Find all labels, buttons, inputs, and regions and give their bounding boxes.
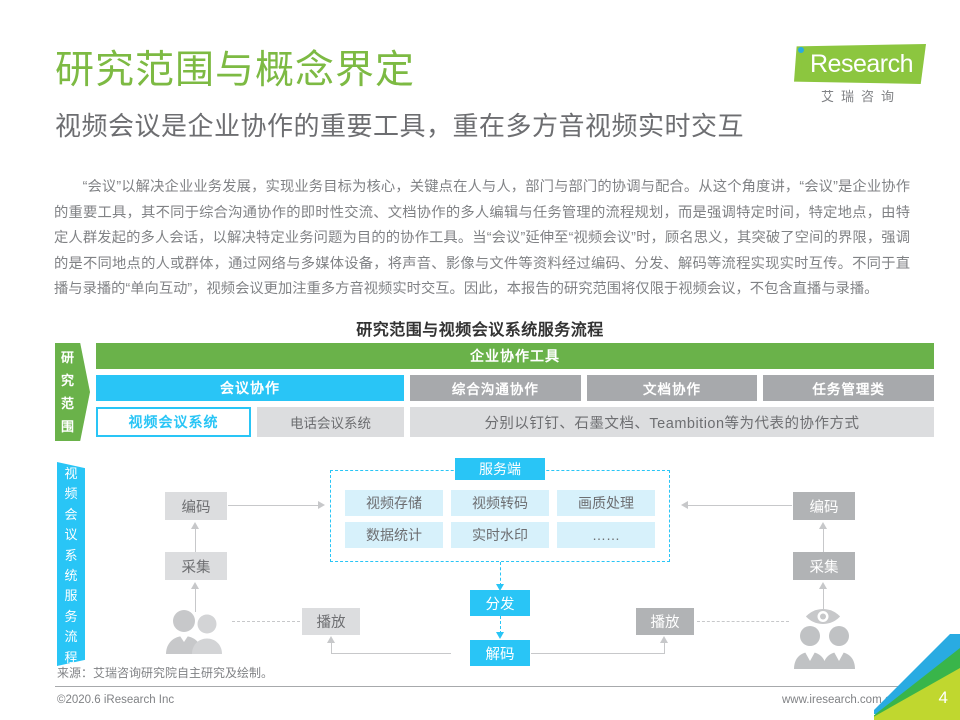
taxonomy-cell-doc-collab: 文档协作 [587,375,758,401]
arrow-up-right-capture [819,582,827,589]
logo-letter-i: i [796,52,804,79]
arrow-left-to-server [681,501,688,509]
arrow-up-left-encode [191,522,199,529]
page-number: 4 [939,688,948,708]
connector-right-play-dashed [697,621,789,622]
flow-box-right-capture: 采集 [793,552,855,580]
chart-title: 研究范围与视频会议系统服务流程 [0,316,960,340]
people-icon-right [791,625,859,669]
flow-box-left-play: 播放 [302,608,360,635]
footer-divider [55,686,905,687]
connector-left-play-dashed [232,621,300,622]
scope-tab-char: 究 [55,369,80,392]
scope-tab-char: 围 [55,415,80,438]
server-region [330,470,670,562]
scope-tab-char: 范 [55,392,80,415]
flow-box-left-encode: 编码 [165,492,227,520]
taxonomy-cell-video-conf-system: 视频会议系统 [96,407,251,437]
taxonomy-cell-task-mgmt: 任务管理类 [763,375,934,401]
flow-box-right-play: 播放 [636,608,694,635]
arrow-down-decode [496,632,504,639]
logo-dot-icon [798,47,804,53]
taxonomy-cell-phone-conf-system: 电话会议系统 [257,407,404,437]
flow-box-distribute: 分发 [470,590,530,616]
taxonomy-cell-other-tools: 分别以钉钉、石墨文档、Teambition等为代表的协作方式 [410,407,934,437]
arrow-up-right-encode [819,522,827,529]
connector-right-encode-to-server [688,505,792,506]
taxonomy-cell-meeting-collab: 会议协作 [96,375,404,401]
iresearch-logo: i Research 艾瑞咨询 [776,44,926,106]
logo-wordmark: Research [810,51,913,78]
server-item-data-stats: 数据统计 [345,522,443,548]
connector-left-play-riser [331,642,332,654]
server-label: 服务端 [455,458,545,480]
connector-left-capture-to-encode [195,528,196,552]
arrow-up-left-play [327,636,335,643]
taxonomy-level2-row: 会议协作 综合沟通协作 文档协作 任务管理类 [96,375,934,401]
page-title: 研究范围与概念界定 [55,48,415,94]
server-item-quality-process: 画质处理 [557,490,655,516]
flow-diagram: 编码 采集 播放 服务端 视频存储 视频转码 画质处理 数据统计 实时水印 …… [0,448,960,673]
connector-right-play-riser [664,642,665,654]
connector-left-encode-to-server [228,505,318,506]
flow-box-decode: 解码 [470,640,530,666]
logo-chinese-name: 艾瑞咨询 [798,86,924,105]
source-note: 来源：艾瑞咨询研究院自主研究及绘制。 [57,664,273,681]
scope-tab: 研 究 范 围 [55,343,90,441]
server-item-video-storage: 视频存储 [345,490,443,516]
people-icon-left [160,608,232,654]
connector-decode-to-right-play [531,653,665,654]
taxonomy-top-band: 企业协作工具 [96,343,934,369]
connector-decode-to-left-play [331,653,451,654]
flow-box-right-encode: 编码 [793,492,855,520]
eye-icon [805,608,841,625]
slide: 研究范围与概念界定 视频会议是企业协作的重要工具，重在多方音视频实时交互 i R… [0,0,960,720]
arrow-right-to-server [318,501,325,509]
taxonomy-block: 企业协作工具 会议协作 综合沟通协作 文档协作 任务管理类 视频会议系统 电话会… [96,343,934,437]
connector-right-capture-to-encode [823,528,824,552]
page-subtitle: 视频会议是企业协作的重要工具，重在多方音视频实时交互 [55,110,744,142]
copyright-text: ©2020.6 iResearch Inc [57,694,174,706]
taxonomy-cell-comm-collab: 综合沟通协作 [410,375,581,401]
server-item-realtime-watermark: 实时水印 [451,522,549,548]
server-item-more: …… [557,522,655,548]
arrow-up-left-capture [191,582,199,589]
taxonomy-level3-row: 视频会议系统 电话会议系统 分别以钉钉、石墨文档、Teambition等为代表的… [96,407,934,437]
body-paragraph: “会议”以解决企业业务发展，实现业务目标为核心，关键点在人与人，部门与部门的协调… [54,175,910,303]
server-item-video-transcode: 视频转码 [451,490,549,516]
scope-tab-char: 研 [55,346,80,369]
arrow-up-right-play [660,636,668,643]
flow-box-left-capture: 采集 [165,552,227,580]
connector-server-to-distribute [500,562,503,586]
